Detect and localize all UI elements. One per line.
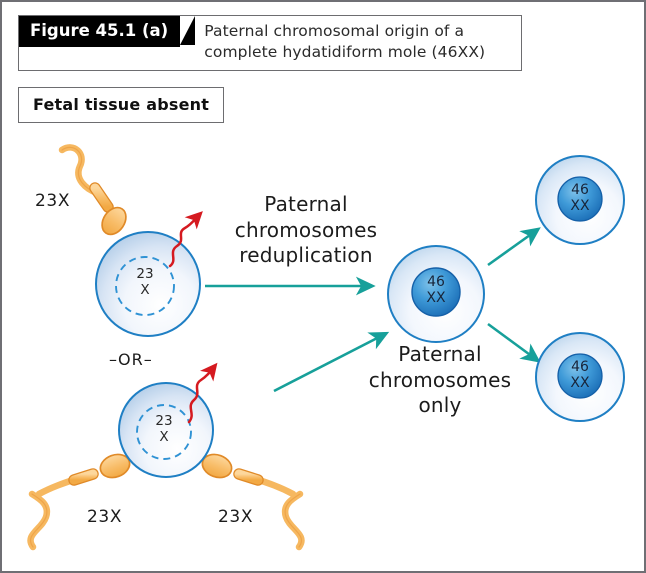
label-sperm-bottom-right: 23X xyxy=(218,507,253,529)
teal-arrow-icon-to-daughter-top xyxy=(488,230,537,265)
zygote-icon-center xyxy=(388,246,484,342)
zygote-icon-daughter-bottom xyxy=(536,333,624,421)
label-paternal-only: Paternal chromosomes only xyxy=(360,342,520,419)
fetal-tissue-note: Fetal tissue absent xyxy=(18,87,224,123)
label-reduplication: Paternal chromosomes reduplication xyxy=(226,192,386,269)
figure-number-tag: Figure 45.1 (a) xyxy=(19,16,180,47)
figure-caption-text: Paternal chromosomal origin of a complet… xyxy=(180,16,521,70)
figure-panel: Figure 45.1 (a) Paternal chromosomal ori… xyxy=(0,0,646,573)
zygote-icon-daughter-top xyxy=(536,156,624,244)
label-or-divider: –OR– xyxy=(109,350,153,370)
label-sperm-top: 23X xyxy=(35,191,70,213)
label-sperm-bottom-left: 23X xyxy=(87,507,122,529)
sperm-icon-top xyxy=(62,147,131,238)
ovum-icon-bottom xyxy=(119,383,213,477)
ovum-icon-top xyxy=(96,232,200,336)
sperm-icon-bottom-right xyxy=(199,451,301,547)
sperm-icon-bottom-left xyxy=(31,451,133,547)
figure-caption-box: Figure 45.1 (a) Paternal chromosomal ori… xyxy=(18,15,522,71)
